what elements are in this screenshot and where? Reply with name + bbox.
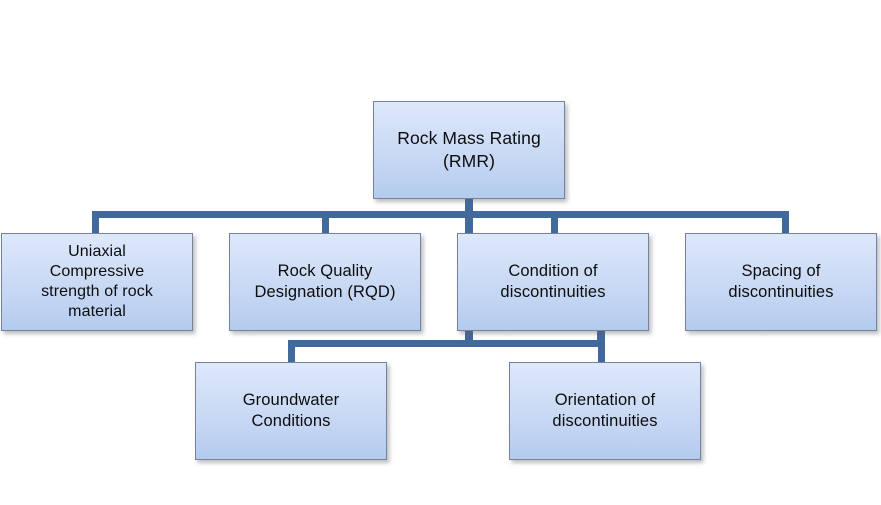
connector-stem-spacing [782, 211, 789, 235]
node-condition-of-discontinuities[interactable]: Condition of discontinuities [457, 233, 649, 331]
node-spacing-of-discontinuities[interactable]: Spacing of discontinuities [685, 233, 877, 331]
connector-stem-rqd [322, 211, 329, 235]
node-label-uniaxial-compressive-strength: Uniaxial Compressive strength of rock ma… [41, 242, 153, 323]
node-rock-mass-rating[interactable]: Rock Mass Rating (RMR) [373, 101, 565, 199]
node-uniaxial-compressive-strength[interactable]: Uniaxial Compressive strength of rock ma… [1, 233, 193, 331]
node-label-rock-quality-designation: Rock Quality Designation (RQD) [254, 261, 395, 304]
connector-level2-bus [288, 340, 605, 347]
node-label-orientation-of-discontinuities: Orientation of discontinuities [552, 390, 657, 433]
node-label-condition-of-discontinuities: Condition of discontinuities [500, 261, 605, 304]
connector-stem-condition [465, 211, 473, 235]
node-label-groundwater-conditions: Groundwater Conditions [243, 390, 339, 433]
node-rock-quality-designation[interactable]: Rock Quality Designation (RQD) [229, 233, 421, 331]
node-label-spacing-of-discontinuities: Spacing of discontinuities [728, 261, 833, 304]
node-orientation-of-discontinuities[interactable]: Orientation of discontinuities [509, 362, 701, 460]
connector-level1-bus [92, 211, 789, 218]
connector-stem-condition-right [551, 211, 558, 235]
rmr-hierarchy-diagram: Rock Mass Rating (RMR) Uniaxial Compress… [0, 0, 881, 505]
node-label-rock-mass-rating: Rock Mass Rating (RMR) [397, 127, 541, 173]
connector-stem-uniaxial [92, 211, 99, 235]
connector-stem-groundwater [288, 340, 295, 364]
connector-stem-orientation [598, 340, 605, 364]
node-groundwater-conditions[interactable]: Groundwater Conditions [195, 362, 387, 460]
